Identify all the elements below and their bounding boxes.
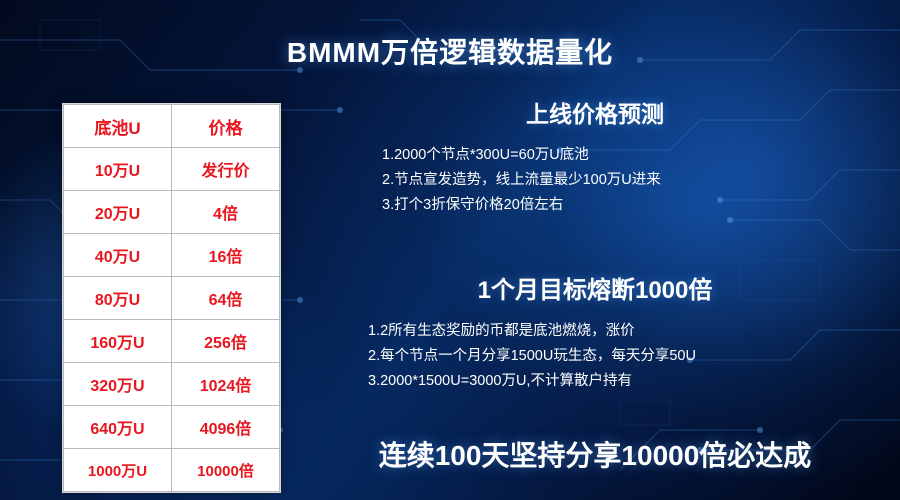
bullet-item: 3.2000*1500U=3000万U,不计算散户持有 [368,369,890,394]
table-row: 1000万U 10000倍 [64,449,280,492]
cell-price: 256倍 [172,320,280,363]
bullet-item: 2.每个节点一个月分享1500U玩生态，每天分享50U [368,344,890,369]
table-row: 10万U 发行价 [64,148,280,191]
table-row: 320万U 1024倍 [64,363,280,406]
cell-price: 发行价 [172,148,280,191]
cell-pool: 40万U [64,234,172,277]
bullet-item: 1.2所有生态奖励的币都是底池燃烧，涨价 [368,319,890,344]
cell-pool: 1000万U [64,449,172,492]
table-row: 40万U 16倍 [64,234,280,277]
cell-price: 64倍 [172,277,280,320]
bullet-item: 3.打个3折保守价格20倍左右 [382,193,890,218]
table-row: 160万U 256倍 [64,320,280,363]
slide-root: BMMM万倍逻辑数据量化 底池U 价格 10万U 发行价 20万U 4倍 40万… [0,0,900,500]
content-column: 上线价格预测 1.2000个节点*300U=60万U底池 2.节点宣发造势，线上… [300,95,890,474]
section-bullets: 1.2000个节点*300U=60万U底池 2.节点宣发造势，线上流量最少100… [300,143,890,218]
cell-pool: 320万U [64,363,172,406]
cell-pool: 160万U [64,320,172,363]
section-heading: 上线价格预测 [300,95,890,129]
footer-slogan: 连续100天坚持分享10000倍必达成 [300,434,890,474]
cell-pool: 80万U [64,277,172,320]
cell-price: 4096倍 [172,406,280,449]
cell-pool: 20万U [64,191,172,234]
section-bullets: 1.2所有生态奖励的币都是底池燃烧，涨价 2.每个节点一个月分享1500U玩生态… [300,319,890,394]
section-heading: 1个月目标熔断1000倍 [300,270,890,305]
cell-price: 4倍 [172,191,280,234]
price-table-container: 底池U 价格 10万U 发行价 20万U 4倍 40万U 16倍 80万U 64… [62,103,281,493]
section-price-forecast: 上线价格预测 1.2000个节点*300U=60万U底池 2.节点宣发造势，线上… [300,95,890,218]
page-title: BMMM万倍逻辑数据量化 [0,31,900,71]
price-table: 底池U 价格 10万U 发行价 20万U 4倍 40万U 16倍 80万U 64… [63,104,280,492]
table-header-row: 底池U 价格 [64,105,280,148]
cell-price: 16倍 [172,234,280,277]
cell-price: 1024倍 [172,363,280,406]
cell-price: 10000倍 [172,449,280,492]
section-monthly-target: 1个月目标熔断1000倍 1.2所有生态奖励的币都是底池燃烧，涨价 2.每个节点… [300,270,890,394]
table-row: 80万U 64倍 [64,277,280,320]
table-row: 20万U 4倍 [64,191,280,234]
table-header-pool: 底池U [64,105,172,148]
cell-pool: 10万U [64,148,172,191]
table-row: 640万U 4096倍 [64,406,280,449]
table-header-price: 价格 [172,105,280,148]
cell-pool: 640万U [64,406,172,449]
bullet-item: 2.节点宣发造势，线上流量最少100万U进来 [382,168,890,193]
bullet-item: 1.2000个节点*300U=60万U底池 [382,143,890,168]
